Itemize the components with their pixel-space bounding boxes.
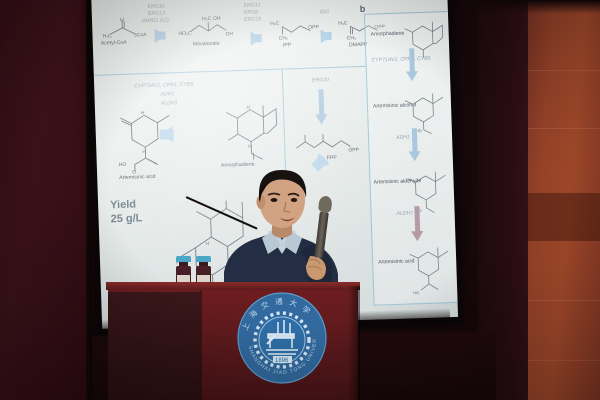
molecule-ipp: H₃C OPP CH₂ xyxy=(270,11,323,41)
svg-text:CH₂: CH₂ xyxy=(279,35,288,41)
panel-b-enzyme-aldh1: ALDH1 xyxy=(396,210,413,218)
university-emblem: 上 海 交 通 大 学 SHANGHAI JIAO TONG UNIVERSIT… xyxy=(234,292,330,384)
svg-text:H₃C: H₃C xyxy=(202,16,212,22)
compound-label-acetyl-coa: Acetyl-CoA xyxy=(101,40,127,48)
podium-top-edge xyxy=(106,282,360,290)
compound-label-mevalonate: Mevalonate xyxy=(193,41,220,49)
panel-b-label: b xyxy=(360,4,366,14)
podium-corner-edge xyxy=(200,290,202,400)
enzyme-idi1: IDI1 xyxy=(320,9,330,16)
svg-text:HO: HO xyxy=(413,290,419,294)
panel-b-arrow-3 xyxy=(414,206,420,232)
panel-b-arrow-1 xyxy=(409,48,415,72)
wall-seam xyxy=(528,360,600,361)
reaction-arrow-erg20 xyxy=(318,89,324,115)
svg-text:OPP: OPP xyxy=(348,147,359,153)
podium-side-panel xyxy=(108,292,200,400)
wall-seam xyxy=(528,300,600,301)
svg-text:O: O xyxy=(120,17,124,23)
molecule-b-artemisinic-alcohol: HO xyxy=(403,89,450,135)
molecule-mevalonate: HO₂C H₃C OH OH xyxy=(178,12,235,40)
screenshot-root: ...nic acid in baker's yeast H₃C O SCoA … xyxy=(0,0,600,400)
compound-label-artemisinic-acid-a: Artemisinic acid xyxy=(119,173,156,182)
eye xyxy=(291,198,297,202)
yield-value: 25 g/L xyxy=(110,211,142,226)
svg-text:HO: HO xyxy=(119,162,127,168)
svg-text:CH₃: CH₃ xyxy=(347,35,356,41)
molecule-fpp: OPP xyxy=(292,130,367,156)
svg-text:H₃C: H₃C xyxy=(270,21,280,27)
mic-body xyxy=(314,212,329,259)
podium-shadow xyxy=(348,286,360,400)
enzyme-erg19: ERG19 xyxy=(244,16,261,24)
svg-text:H: H xyxy=(248,144,251,149)
molecule-amorphadiene-a: H H xyxy=(219,95,287,163)
svg-text:H: H xyxy=(141,110,144,115)
svg-text:OH: OH xyxy=(213,16,221,22)
molecule-b-artemisinic-aldehyde: O xyxy=(405,167,452,214)
panel-b-compound-amorphadiene: Amorphadiene xyxy=(371,31,405,39)
panel-b-arrow-2 xyxy=(412,128,418,152)
svg-text:OPP: OPP xyxy=(308,24,319,30)
enzyme-cyp71av1-group: CYP71AV1, CPR1, CYB5 xyxy=(134,82,193,91)
enzyme-erg20: ERG20 xyxy=(312,77,329,85)
wall-seam xyxy=(528,70,600,71)
mic-head-icon xyxy=(318,195,333,212)
enzyme-thmg1: tHMG1 (x2) xyxy=(142,17,169,25)
enzyme-adh1: ADH1 xyxy=(160,91,174,98)
svg-text:HO₂C: HO₂C xyxy=(178,31,192,37)
left-wall xyxy=(0,0,92,400)
reaction-arrow-2 xyxy=(250,31,261,45)
reaction-arrow-1 xyxy=(154,28,165,42)
molecule-artemisinic-acid-a: H H HO O xyxy=(115,102,181,174)
reaction-arrow-3 xyxy=(320,29,331,43)
right-wall-lit-panel xyxy=(528,0,600,400)
ceiling-shadow xyxy=(478,0,600,14)
figure-divider-horizontal xyxy=(94,66,366,76)
molecule-b-artemisinic-acid: HO xyxy=(408,243,456,294)
svg-text:H: H xyxy=(205,241,209,247)
ear xyxy=(257,195,266,209)
panel-b-enzyme-adh1: ADH1 xyxy=(396,134,410,141)
yield-label: Yield xyxy=(110,198,136,213)
svg-text:SCoA: SCoA xyxy=(133,32,147,38)
svg-text:H₃C: H₃C xyxy=(338,20,348,26)
svg-text:H: H xyxy=(247,105,250,110)
compound-label-ipp: IPP xyxy=(283,42,292,49)
wall-seam xyxy=(528,128,600,129)
svg-text:OH: OH xyxy=(225,31,233,37)
emblem-year-text: 1896 xyxy=(275,358,289,364)
svg-text:H: H xyxy=(142,149,145,154)
svg-text:H₃C: H₃C xyxy=(102,33,112,39)
eye xyxy=(271,198,278,202)
